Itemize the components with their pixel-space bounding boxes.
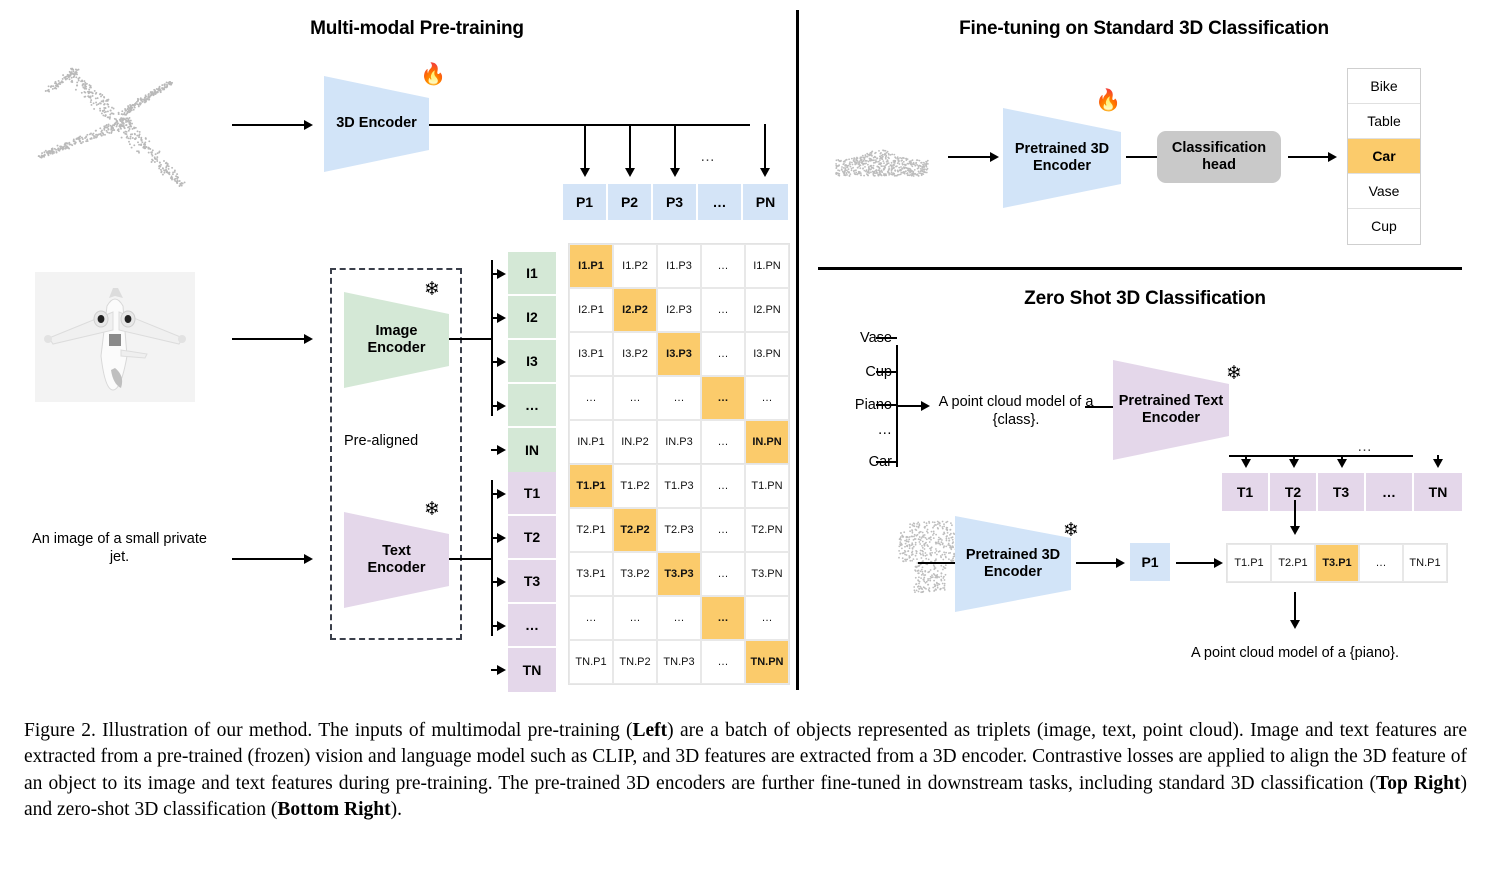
class-list: BikeTableCarVaseCup (1347, 68, 1421, 245)
matrix-cell: T1.P3 (657, 464, 701, 508)
vertical-divider (796, 10, 799, 690)
zeroshot-similarity-row: T1.P1T2.P1T3.P1…TN.P1 (1226, 543, 1448, 583)
matrix-cell: T3.P1 (569, 552, 613, 596)
arrow-line-sim-to-result (1294, 592, 1296, 622)
zeroshot-text-feature-cell: TN (1414, 473, 1462, 511)
bracket-tick (876, 404, 897, 406)
bracket-tick (876, 371, 897, 373)
point-feature-cell: P3 (653, 184, 698, 220)
arrow-head-p1-to-sim (1214, 558, 1223, 568)
matrix-cell: … (701, 288, 745, 332)
text-feature-cell: T2 (508, 516, 556, 560)
arrow-line-text (232, 558, 306, 560)
fanout-line (674, 124, 676, 170)
matrix-cell: T3.P2 (613, 552, 657, 596)
arrow-line-encoder-to-p1 (1076, 562, 1118, 564)
caption-bold: Left (633, 720, 668, 741)
matrix-cell: … (569, 596, 613, 640)
matrix-cell: I2.P1 (569, 288, 613, 332)
encoder-image[interactable]: ImageEncoder (344, 292, 449, 388)
arrow-line-image (232, 338, 306, 340)
fanout-head (497, 489, 506, 499)
pretrained-3d-encoder-zeroshot[interactable]: Pretrained 3DEncoder (955, 516, 1071, 612)
matrix-cell: … (701, 376, 745, 420)
matrix-cell: I3.P1 (569, 332, 613, 376)
figure-caption: Figure 2. Illustration of our method. Th… (24, 718, 1467, 823)
zs-col-head (1241, 459, 1251, 468)
point-feature-cell: … (698, 184, 743, 220)
matrix-cell: I1.P3 (657, 244, 701, 288)
matrix-cell: … (745, 376, 789, 420)
zeroshot-similarity-cell: T3.P1 (1315, 544, 1359, 582)
zeroshot-text-feature-cell: … (1366, 473, 1414, 511)
zeroshot-text-feature-row: T1T2T3…TN (1222, 473, 1462, 511)
point-feature-cell: PN (743, 184, 788, 220)
caption-bold: Bottom Right (277, 799, 390, 820)
encoder-3d-label: 3D Encoder (336, 115, 417, 132)
matrix-cell: I1.P2 (613, 244, 657, 288)
matrix-cell: I3.P2 (613, 332, 657, 376)
zeroshot-similarity-cell: TN.P1 (1403, 544, 1447, 582)
text-feature-cell: … (508, 604, 556, 648)
matrix-cell: … (701, 332, 745, 376)
arrow-head-image (304, 334, 313, 344)
airplane-point-cloud-icon (14, 48, 214, 198)
matrix-cell: … (701, 244, 745, 288)
zeroshot-similarity-cell: … (1359, 544, 1403, 582)
matrix-cell: TN.P1 (569, 640, 613, 684)
zeroshot-similarity-cell: T1.P1 (1227, 544, 1271, 582)
horizontal-divider (818, 267, 1462, 270)
encoder-text-label: TextEncoder (367, 543, 425, 577)
fanout-line (764, 124, 766, 170)
input-text-caption: An image of a small private jet. (32, 530, 207, 566)
matrix-cell: IN.P2 (613, 420, 657, 464)
zeroshot-class-name: … (836, 421, 892, 439)
pfeature-ellipsis: … (700, 148, 715, 167)
arrow-head-encoder-to-p1 (1116, 558, 1125, 568)
bottom-right-panel-title: Zero Shot 3D Classification (935, 288, 1355, 310)
zeroshot-text-ellipsis: … (1357, 438, 1372, 457)
arrow-head-pointcloud (304, 120, 313, 130)
arrow-head-classes-to-prompt (921, 401, 930, 411)
matrix-cell: T1.P2 (613, 464, 657, 508)
image-feature-stack: I1I2I3…IN (508, 252, 556, 472)
fanout-head (497, 445, 506, 455)
matrix-cell: I3.PN (745, 332, 789, 376)
arrow-line-pointcloud (232, 124, 306, 126)
matrix-cell: T2.P2 (613, 508, 657, 552)
matrix-cell: … (701, 420, 745, 464)
text-point-similarity-matrix: T1.P1T1.P2T1.P3…T1.PNT2.P1T2.P2T2.P3…T2.… (568, 463, 790, 685)
fanout-head (760, 168, 770, 177)
fanout-head (497, 401, 506, 411)
text-bus-stub (448, 558, 492, 560)
text-bus-spine (491, 480, 493, 636)
image-feature-cell: IN (508, 428, 556, 472)
image-feature-cell: I2 (508, 296, 556, 340)
matrix-cell: T2.PN (745, 508, 789, 552)
encoder-image-text: ImageEncoder (367, 323, 425, 356)
zeroshot-text-feature-cell: T1 (1222, 473, 1270, 511)
matrix-cell: T2.P1 (569, 508, 613, 552)
matrix-cell: I2.P3 (657, 288, 701, 332)
arrow-head-text (304, 554, 313, 564)
matrix-cell: IN.P1 (569, 420, 613, 464)
image-point-similarity-matrix: I1.P1I1.P2I1.P3…I1.PNI2.P1I2.P2I2.P3…I2.… (568, 243, 790, 465)
arrow-line-t3-down (1294, 500, 1296, 528)
pretrained-3d-encoder-zeroshot-label: Pretrained 3DEncoder (966, 547, 1060, 581)
image-feature-cell: I1 (508, 252, 556, 296)
fanout-head (670, 168, 680, 177)
caption-text: ). (391, 799, 402, 820)
encoder-text-text: TextEncoder (367, 543, 425, 576)
matrix-cell: … (745, 596, 789, 640)
matrix-cell: … (569, 376, 613, 420)
point-feature-cell: P1 (563, 184, 608, 220)
classification-head-label: Classificationhead (1172, 140, 1266, 175)
pfeature-bus-line (428, 124, 750, 126)
matrix-cell: … (701, 596, 745, 640)
fanout-head (497, 665, 506, 675)
arrow-line-head-to-classes (1288, 156, 1330, 158)
arrow-line-p1-to-sim (1176, 562, 1216, 564)
matrix-cell: TN.P3 (657, 640, 701, 684)
zs-col-head (1289, 459, 1299, 468)
fanout-line (584, 124, 586, 170)
matrix-cell: … (613, 596, 657, 640)
arrow-line-classes-to-prompt (897, 405, 923, 407)
point-feature-cell: P2 (608, 184, 653, 220)
image-feature-cell: … (508, 384, 556, 428)
matrix-cell: T1.P1 (569, 464, 613, 508)
zeroshot-point-feature: P1 (1130, 543, 1170, 581)
left-panel-title: Multi-modal Pre-training (267, 18, 567, 40)
fanout-head (497, 621, 506, 631)
class-list-item: Car (1348, 139, 1420, 174)
matrix-cell: … (701, 552, 745, 596)
matrix-cell: … (701, 464, 745, 508)
matrix-cell: … (613, 376, 657, 420)
encoder-image-label: ImageEncoder (367, 323, 425, 357)
matrix-cell: T3.PN (745, 552, 789, 596)
fanout-head (497, 269, 506, 279)
fanout-line (629, 124, 631, 170)
text-feature-cell: T1 (508, 472, 556, 516)
encoder-text[interactable]: TextEncoder (344, 512, 449, 608)
encoder-3d[interactable]: 3D Encoder (324, 76, 429, 172)
arrow-head-t3-down (1290, 526, 1300, 535)
matrix-cell: … (657, 376, 701, 420)
fanout-head (625, 168, 635, 177)
arrow-head-head-to-classes (1328, 152, 1337, 162)
zeroshot-text-feature-cell: T3 (1318, 473, 1366, 511)
car-point-cloud-icon (828, 130, 938, 190)
zeroshot-result-text: A point cloud model of a {piano}. (1164, 644, 1426, 662)
zs-col-head (1433, 459, 1443, 468)
matrix-cell: IN.PN (745, 420, 789, 464)
matrix-cell: TN.PN (745, 640, 789, 684)
fanout-head (497, 533, 506, 543)
prompt-template: A point cloud model of a {class}. (932, 393, 1100, 429)
matrix-cell: T3.P3 (657, 552, 701, 596)
matrix-cell: T2.P3 (657, 508, 701, 552)
text-feature-stack: T1T2T3…TN (508, 472, 556, 692)
top-right-panel-title: Fine-tuning on Standard 3D Classificatio… (864, 18, 1424, 40)
image-feature-cell: I3 (508, 340, 556, 384)
pretrained-3d-encoder-finetune[interactable]: Pretrained 3DEncoder (1003, 108, 1121, 208)
text-feature-cell: T3 (508, 560, 556, 604)
matrix-cell: … (701, 640, 745, 684)
class-list-item: Vase (1348, 174, 1420, 209)
prealigned-label: Pre-aligned (344, 432, 418, 450)
arrow-line-car-to-encoder (948, 156, 992, 158)
matrix-cell: I2.PN (745, 288, 789, 332)
pretrained-text-encoder-zeroshot[interactable]: Pretrained TextEncoder (1113, 360, 1229, 460)
classification-head-box[interactable]: Classificationhead (1157, 131, 1281, 183)
matrix-cell: I2.P2 (613, 288, 657, 332)
matrix-cell: … (657, 596, 701, 640)
class-list-item: Bike (1348, 69, 1420, 104)
fanout-head (497, 577, 506, 587)
image-bus-spine (491, 260, 493, 416)
image-bus-stub (448, 338, 492, 340)
matrix-cell: I1.P1 (569, 244, 613, 288)
fanout-head (497, 357, 506, 367)
figure-canvas: Multi-modal Pre-training An image of a s… (0, 0, 1490, 700)
caption-bold: Top Right (1376, 773, 1460, 794)
caption-text: Figure 2. Illustration of our method. Th… (24, 720, 633, 741)
arrow-head-sim-to-result (1290, 620, 1300, 629)
zs-col-head (1337, 459, 1347, 468)
matrix-cell: … (701, 508, 745, 552)
text-feature-cell: TN (508, 648, 556, 692)
jet-image-thumbnail (35, 272, 195, 402)
pretrained-text-encoder-zeroshot-label: Pretrained TextEncoder (1119, 393, 1224, 427)
class-list-item: Table (1348, 104, 1420, 139)
matrix-cell: I1.PN (745, 244, 789, 288)
matrix-cell: T1.PN (745, 464, 789, 508)
arrow-head-car-to-encoder (990, 152, 999, 162)
class-list-item: Cup (1348, 209, 1420, 244)
matrix-cell: TN.P2 (613, 640, 657, 684)
bracket-tick (876, 461, 897, 463)
zeroshot-similarity-cell: T2.P1 (1271, 544, 1315, 582)
matrix-cell: IN.P3 (657, 420, 701, 464)
point-feature-row: P1P2P3…PN (563, 184, 788, 220)
fanout-head (497, 313, 506, 323)
zeroshot-text-bus-line (1229, 455, 1413, 457)
pretrained-3d-encoder-finetune-label: Pretrained 3DEncoder (1015, 141, 1109, 175)
fanout-head (580, 168, 590, 177)
matrix-cell: I3.P3 (657, 332, 701, 376)
bracket-tick (876, 337, 897, 339)
